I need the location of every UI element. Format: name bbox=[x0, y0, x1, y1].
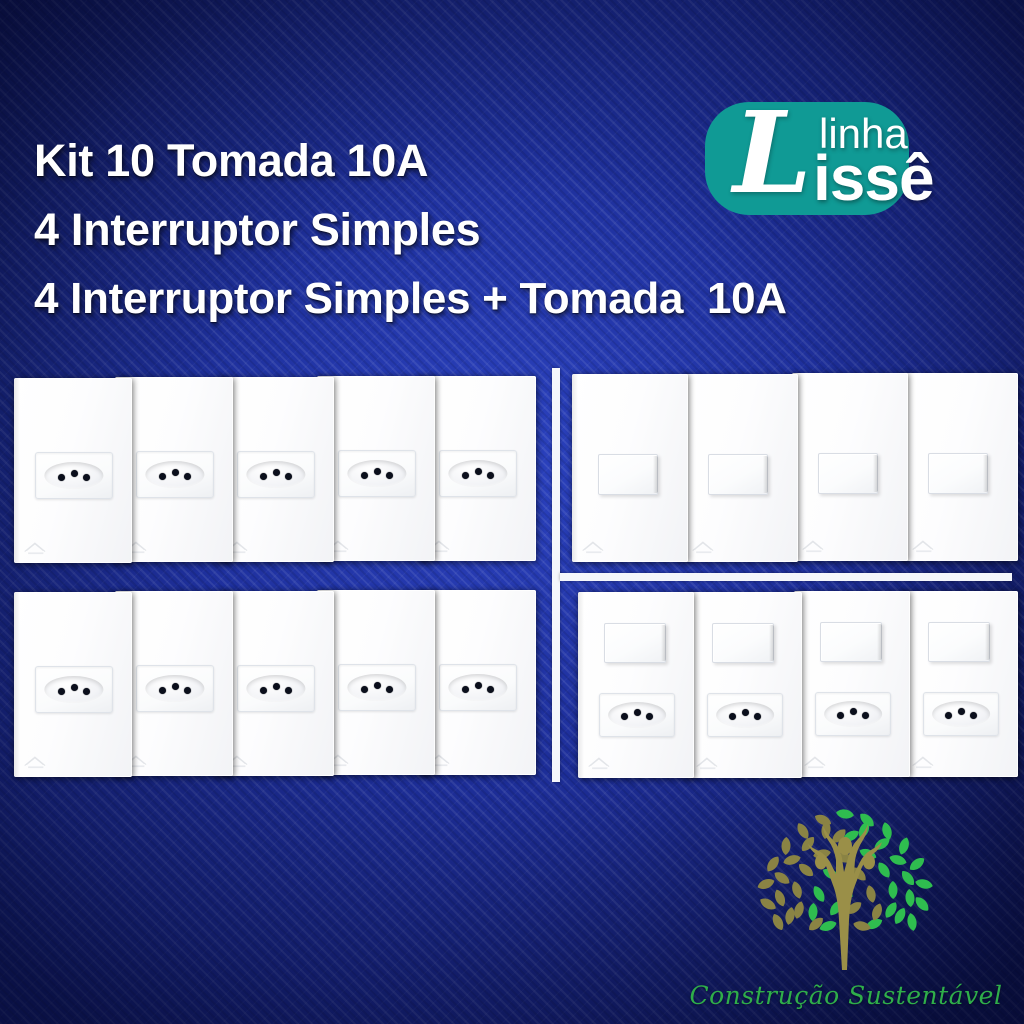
socket-pin-hole bbox=[71, 470, 78, 477]
socket-pin-hole bbox=[260, 687, 267, 694]
socket-module[interactable] bbox=[599, 693, 675, 737]
socket-pin-hole bbox=[159, 473, 166, 480]
socket-module[interactable] bbox=[923, 692, 999, 736]
logo-letter-l: L bbox=[733, 98, 808, 210]
leaf-icon bbox=[899, 868, 917, 888]
leaf-icon bbox=[784, 906, 796, 925]
product-plate-socket[interactable] bbox=[115, 377, 233, 562]
leaf-icon bbox=[906, 912, 918, 931]
leaf-icon bbox=[782, 853, 802, 867]
product-plate-switch[interactable] bbox=[572, 374, 688, 562]
socket-pin-hole bbox=[374, 468, 381, 475]
socket-pin-hole bbox=[83, 474, 90, 481]
leaf-icon bbox=[835, 808, 854, 820]
leaf-icon bbox=[880, 821, 893, 841]
leaf-icon bbox=[870, 902, 885, 922]
product-plate-switch-socket[interactable] bbox=[794, 591, 910, 777]
switch-rocker[interactable] bbox=[598, 454, 658, 495]
leaf-icon bbox=[907, 855, 927, 873]
leaf-icon bbox=[865, 884, 878, 904]
socket-pin-hole bbox=[487, 472, 494, 479]
socket-module[interactable] bbox=[338, 664, 416, 711]
socket-module[interactable] bbox=[439, 450, 517, 497]
product-plate-switch-socket[interactable] bbox=[578, 592, 694, 778]
product-plate-switch-socket[interactable] bbox=[902, 591, 1018, 777]
plate-watermark-icon bbox=[695, 756, 729, 772]
leaf-icon bbox=[913, 894, 932, 913]
socket-module[interactable] bbox=[136, 451, 214, 498]
socket-pin-hole bbox=[58, 474, 65, 481]
socket-pin-hole bbox=[475, 468, 482, 475]
socket-pin-hole bbox=[634, 709, 641, 716]
switch-rocker[interactable] bbox=[928, 453, 988, 494]
product-plate-socket[interactable] bbox=[14, 378, 132, 563]
leaf-icon bbox=[905, 889, 916, 908]
plate-watermark-icon bbox=[587, 756, 621, 772]
socket-pin-hole bbox=[850, 708, 857, 715]
switch-rocker[interactable] bbox=[818, 453, 878, 494]
plate-watermark-icon bbox=[911, 539, 945, 555]
socket-module[interactable] bbox=[237, 451, 315, 498]
tree-icon bbox=[676, 800, 1016, 980]
leaf-icon bbox=[770, 912, 786, 932]
leaf-icon bbox=[758, 896, 778, 913]
socket-pin-hole bbox=[172, 683, 179, 690]
socket-module[interactable] bbox=[439, 664, 517, 711]
leaf-icon bbox=[897, 836, 911, 856]
socket-pin-hole bbox=[361, 686, 368, 693]
product-plate-switch[interactable] bbox=[792, 373, 908, 561]
product-plate-switch-socket[interactable] bbox=[686, 592, 802, 778]
socket-pin-hole bbox=[184, 473, 191, 480]
leaf-icon bbox=[888, 881, 897, 899]
logo-caption: Construção Sustentável bbox=[676, 981, 1016, 1010]
leaf-icon bbox=[888, 853, 908, 867]
socket-pin-hole bbox=[386, 686, 393, 693]
leaf-icon bbox=[808, 903, 818, 922]
leaf-icon bbox=[811, 884, 828, 904]
switch-rocker[interactable] bbox=[708, 454, 768, 495]
leaf-icon bbox=[852, 919, 872, 932]
plate-watermark-icon bbox=[581, 540, 615, 556]
product-plate-socket[interactable] bbox=[317, 376, 435, 561]
product-plate-switch[interactable] bbox=[682, 374, 798, 562]
socket-module[interactable] bbox=[815, 692, 891, 736]
product-plate-socket[interactable] bbox=[115, 591, 233, 776]
product-plate-switch[interactable] bbox=[902, 373, 1018, 561]
leaf-icon bbox=[764, 854, 782, 874]
socket-pin-hole bbox=[958, 708, 965, 715]
plate-watermark-icon bbox=[23, 541, 57, 557]
socket-pin-hole bbox=[58, 688, 65, 695]
socket-pin-hole bbox=[462, 686, 469, 693]
switch-rocker[interactable] bbox=[928, 622, 990, 662]
plate-watermark-icon bbox=[23, 755, 57, 771]
socket-pin-hole bbox=[361, 472, 368, 479]
socket-module[interactable] bbox=[707, 693, 783, 737]
socket-pin-hole bbox=[462, 472, 469, 479]
socket-module[interactable] bbox=[35, 452, 113, 499]
product-plate-socket[interactable] bbox=[14, 592, 132, 777]
socket-pin-hole bbox=[83, 688, 90, 695]
socket-pin-hole bbox=[159, 687, 166, 694]
socket-pin-hole bbox=[260, 473, 267, 480]
leaf-icon bbox=[914, 878, 934, 891]
construcao-sustentavel-logo: Construção Sustentável bbox=[676, 800, 1016, 1014]
plate-watermark-icon bbox=[803, 755, 837, 771]
socket-pin-hole bbox=[285, 687, 292, 694]
leaf-icon bbox=[756, 877, 776, 892]
leaf-icon bbox=[781, 837, 791, 855]
socket-pin-hole bbox=[475, 682, 482, 689]
horizontal-divider bbox=[560, 573, 1012, 581]
socket-module[interactable] bbox=[338, 450, 416, 497]
plate-watermark-icon bbox=[691, 540, 725, 556]
plate-watermark-icon bbox=[911, 755, 945, 771]
vertical-divider bbox=[552, 368, 560, 782]
socket-pin-hole bbox=[273, 469, 280, 476]
leaf-icon bbox=[875, 860, 893, 880]
socket-module[interactable] bbox=[136, 665, 214, 712]
socket-pin-hole bbox=[172, 469, 179, 476]
switch-rocker[interactable] bbox=[820, 622, 882, 662]
linha-lisse-logo: L linha issê bbox=[705, 102, 937, 215]
socket-pin-hole bbox=[285, 473, 292, 480]
product-plate-socket[interactable] bbox=[317, 590, 435, 775]
headline-line-3: 4 Interruptor Simples + Tomada 10A bbox=[34, 264, 1014, 333]
socket-pin-hole bbox=[386, 472, 393, 479]
socket-pin-hole bbox=[184, 687, 191, 694]
socket-pin-hole bbox=[374, 682, 381, 689]
socket-pin-hole bbox=[487, 686, 494, 693]
socket-pin-hole bbox=[742, 709, 749, 716]
socket-module[interactable] bbox=[237, 665, 315, 712]
product-plate-socket[interactable] bbox=[418, 376, 536, 561]
leaf-icon bbox=[796, 861, 816, 879]
socket-pin-hole bbox=[273, 683, 280, 690]
plate-watermark-icon bbox=[801, 539, 835, 555]
leaf-icon bbox=[772, 869, 792, 887]
switch-rocker[interactable] bbox=[712, 623, 774, 663]
product-plate-socket[interactable] bbox=[216, 377, 334, 562]
switch-rocker[interactable] bbox=[604, 623, 666, 663]
leaf-icon bbox=[790, 880, 804, 900]
socket-module[interactable] bbox=[35, 666, 113, 713]
product-plate-socket[interactable] bbox=[418, 590, 536, 775]
promo-banner: Kit 10 Tomada 10A 4 Interruptor Simples … bbox=[0, 0, 1024, 1024]
product-plate-socket[interactable] bbox=[216, 591, 334, 776]
socket-pin-hole bbox=[71, 684, 78, 691]
logo-word-isse: issê bbox=[813, 146, 934, 210]
